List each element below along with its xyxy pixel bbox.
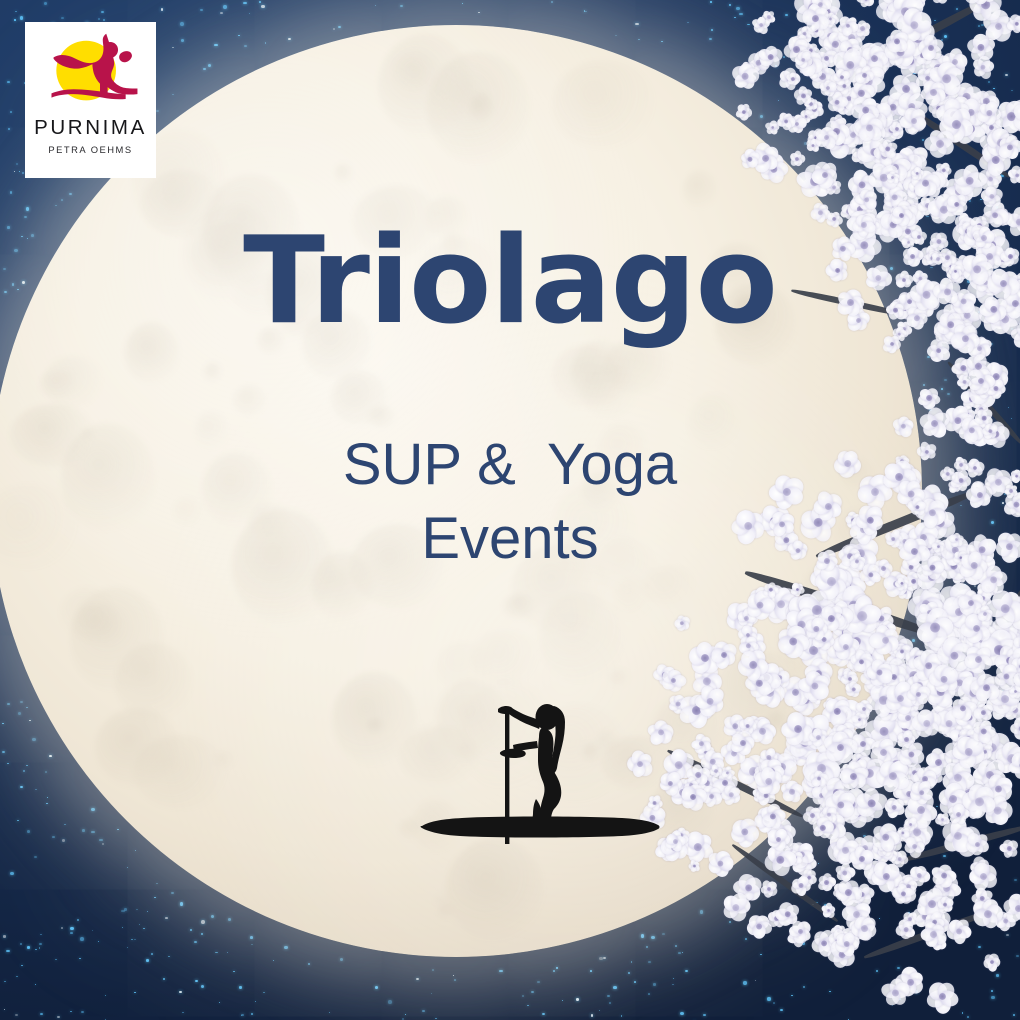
page-title: Triolago	[0, 222, 1020, 342]
stand-up-paddleboarder-icon	[410, 695, 666, 855]
poster-canvas: PURNIMA PETRA OEHMS Triolago SUP & Yoga …	[0, 0, 1020, 1020]
logo-person-name: PETRA OEHMS	[48, 145, 132, 154]
page-subtitle: SUP & Yoga Events	[0, 428, 1020, 576]
logo-brand-name: PURNIMA	[34, 118, 147, 139]
brand-logo-card: PURNIMA PETRA OEHMS	[25, 22, 156, 178]
yoga-figure-sun-icon	[39, 32, 143, 116]
